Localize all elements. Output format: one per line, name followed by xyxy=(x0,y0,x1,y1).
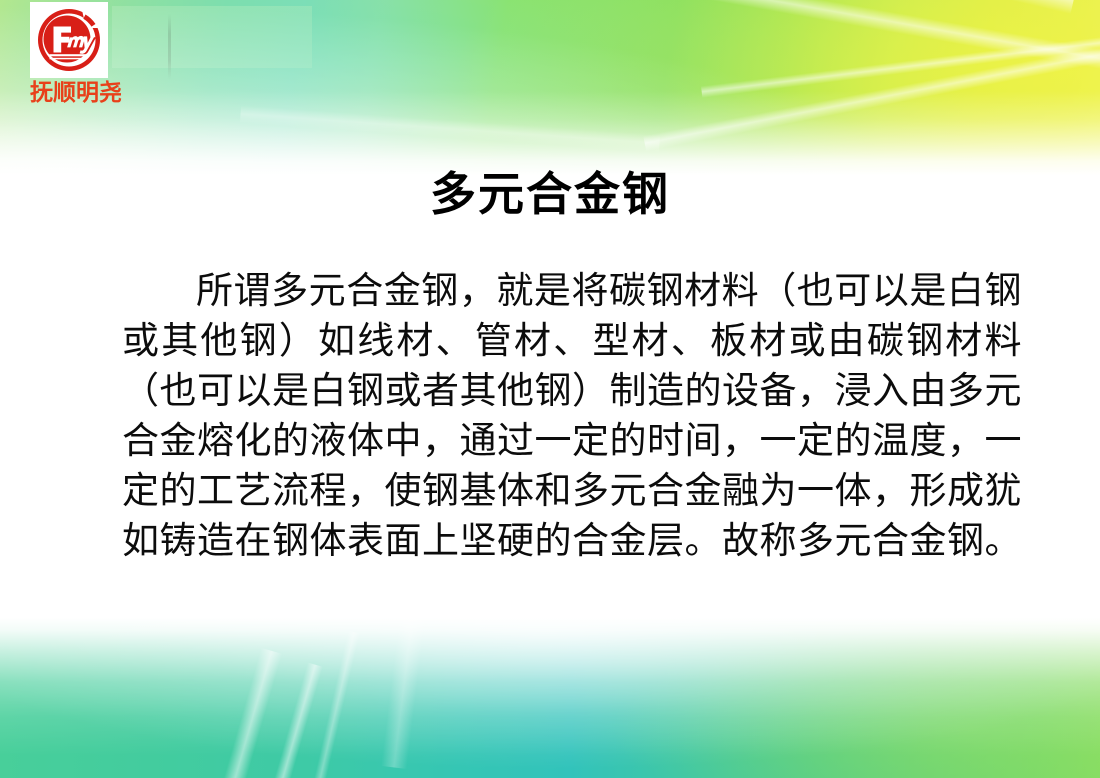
presentation-slide: 抚顺明尧 多元合金钢 所谓多元合金钢，就是将碳钢材料（也可以是白钢或其他钢）如线… xyxy=(0,0,1100,778)
brand-logo-block: 抚顺明尧 xyxy=(30,2,114,104)
slide-title: 多元合金钢 xyxy=(0,168,1100,221)
top-decorative-band xyxy=(0,0,1100,175)
bottom-band-white-fade xyxy=(0,618,1100,778)
company-name-label: 抚顺明尧 xyxy=(30,80,114,104)
top-band-white-fade xyxy=(0,0,1100,175)
slide-body-text: 所谓多元合金钢，就是将碳钢材料（也可以是白钢或其他钢）如线材、管材、型材、板材或… xyxy=(122,266,1022,566)
bottom-decorative-band xyxy=(0,618,1100,778)
fmy-logo-icon xyxy=(30,2,108,78)
